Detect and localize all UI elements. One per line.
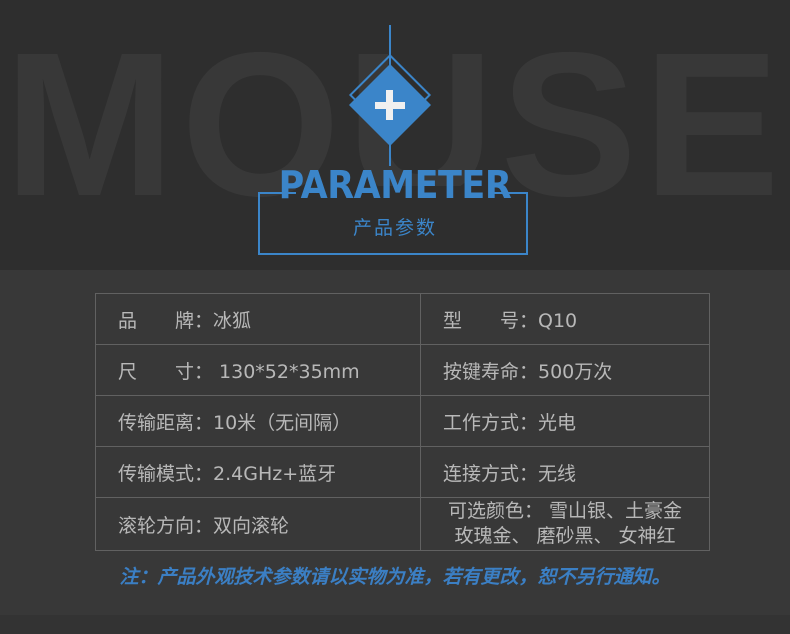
table-row: 品 牌：冰狐 型 号：Q10 (96, 294, 710, 345)
connector-line-bottom (389, 133, 391, 166)
spec-cell-connection-type: 连接方式：无线 (421, 447, 710, 498)
plus-icon-vertical-bar (386, 90, 393, 120)
spec-cell-model: 型 号：Q10 (421, 294, 710, 345)
page-title-cn: 产品参数 (0, 216, 790, 240)
product-parameter-page: MOUSE PARAMETER 产品参数 品 牌：冰狐 型 号：Q10 尺 寸：… (0, 0, 790, 634)
background-band-bottom (0, 615, 790, 634)
specification-table: 品 牌：冰狐 型 号：Q10 尺 寸： 130*52*35mm 按键寿命：500… (95, 293, 710, 551)
spec-colors-line-2: 玫瑰金、 磨砂黑、 女神红 (421, 524, 709, 549)
spec-cell-colors: 可选颜色： 雪山银、土豪金 玫瑰金、 磨砂黑、 女神红 (421, 498, 710, 551)
spec-cell-work-mode: 工作方式：光电 (421, 396, 710, 447)
table-row: 传输模式：2.4GHz+蓝牙 连接方式：无线 (96, 447, 710, 498)
table-row: 传输距离：10米（无间隔） 工作方式：光电 (96, 396, 710, 447)
spec-colors-line-1: 可选颜色： 雪山银、土豪金 (421, 499, 709, 524)
page-title-en: PARAMETER (32, 164, 759, 206)
table-row: 尺 寸： 130*52*35mm 按键寿命：500万次 (96, 345, 710, 396)
disclaimer-note: 注：产品外观技术参数请以实物为准，若有更改，恕不另行通知。 (0, 562, 790, 589)
spec-cell-range: 传输距离：10米（无间隔） (96, 396, 421, 447)
spec-cell-wheel-direction: 滚轮方向：双向滚轮 (96, 498, 421, 551)
spec-cell-key-life: 按键寿命：500万次 (421, 345, 710, 396)
table-row: 滚轮方向：双向滚轮 可选颜色： 雪山银、土豪金 玫瑰金、 磨砂黑、 女神红 (96, 498, 710, 551)
spec-cell-size: 尺 寸： 130*52*35mm (96, 345, 421, 396)
spec-cell-brand: 品 牌：冰狐 (96, 294, 421, 345)
spec-cell-transmission-mode: 传输模式：2.4GHz+蓝牙 (96, 447, 421, 498)
header-ornament: PARAMETER 产品参数 (0, 0, 790, 270)
